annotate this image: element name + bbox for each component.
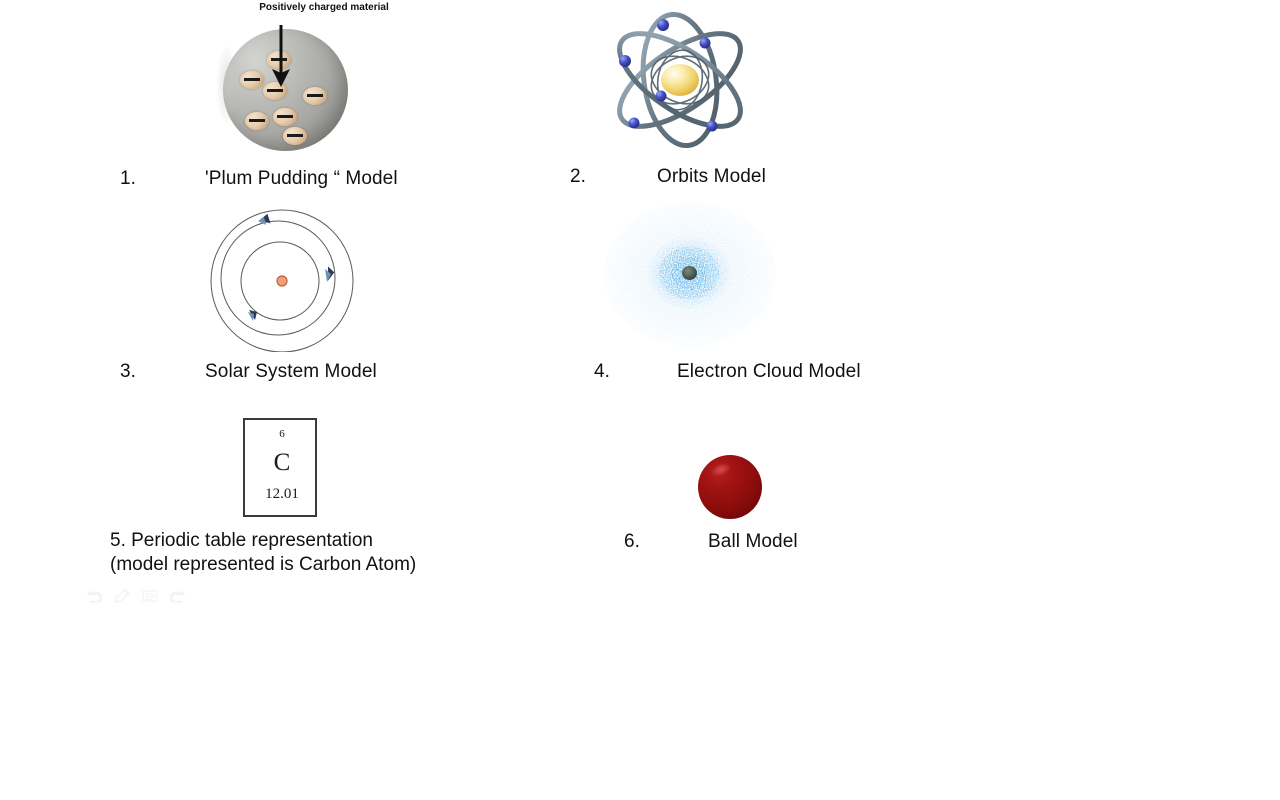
annotation-arrow-icon <box>261 25 301 87</box>
ink-annotation-toolbar[interactable] <box>86 586 186 606</box>
item-label-orbits: Orbits Model <box>657 166 766 188</box>
periodic-caption-line-1: 5. Periodic table representation <box>110 529 530 553</box>
atomic-number: 6 <box>245 428 319 440</box>
slide-canvas: Positively charged material 1. 'Plum Pud… <box>0 0 1280 800</box>
element-symbol: C <box>245 449 319 476</box>
item-number-1: 1. <box>120 168 136 190</box>
orbits-rings-graphic <box>600 8 760 153</box>
electron-cloud-model-figure <box>602 200 778 348</box>
plum-pudding-electron <box>245 112 269 130</box>
solar-system-orbits-graphic <box>208 204 358 352</box>
periodic-caption-line-2: (model represented is Carbon Atom) <box>110 553 530 577</box>
plum-pudding-electron <box>273 108 297 126</box>
positively-charged-material-annotation: Positively charged material <box>258 2 390 14</box>
atomic-mass: 12.01 <box>245 486 319 503</box>
electron-cloud-nucleus <box>682 266 697 280</box>
item-label-periodic-table: 5. Periodic table representation (model … <box>110 529 530 577</box>
item-number-6: 6. <box>624 531 640 553</box>
orbits-model-figure <box>600 8 760 153</box>
item-number-4: 4. <box>594 361 610 383</box>
ball-model-figure <box>698 455 762 519</box>
plum-pudding-model-figure <box>215 29 355 151</box>
forward-arrow-icon[interactable] <box>170 588 186 604</box>
plum-pudding-electron <box>303 87 327 105</box>
item-number-2: 2. <box>570 166 586 188</box>
item-label-ball: Ball Model <box>708 531 798 553</box>
undo-arrow-icon[interactable] <box>86 588 102 604</box>
item-number-3: 3. <box>120 361 136 383</box>
item-label-plum-pudding: 'Plum Pudding “ Model <box>205 168 398 190</box>
solar-system-model-figure <box>208 204 358 352</box>
ball-sphere <box>698 455 762 519</box>
pen-icon[interactable] <box>114 588 130 604</box>
item-label-electron-cloud: Electron Cloud Model <box>677 361 861 383</box>
periodic-table-cell: 6 C 12.01 <box>243 418 317 517</box>
lines-icon[interactable] <box>142 588 158 604</box>
plum-pudding-electron <box>283 127 307 145</box>
item-label-solar-system: Solar System Model <box>205 361 377 383</box>
